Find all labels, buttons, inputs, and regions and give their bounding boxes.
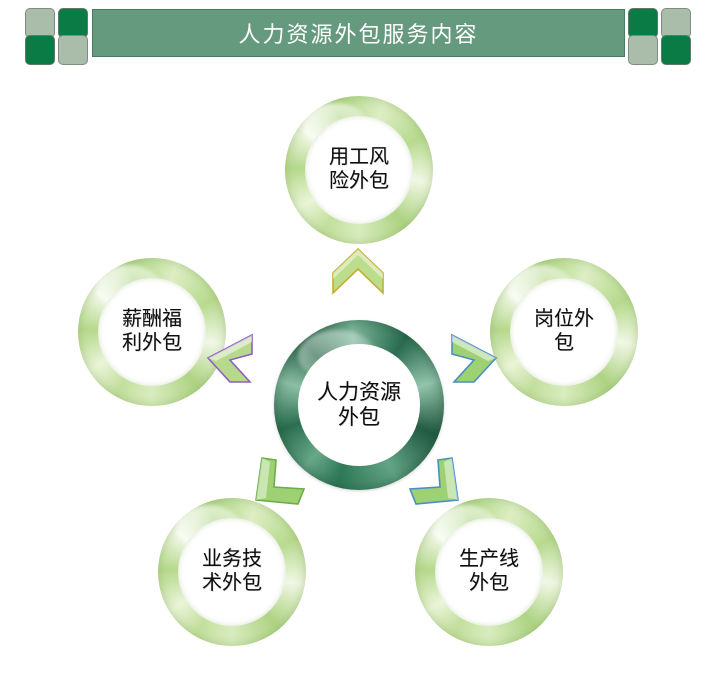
deco-right-bottom-right xyxy=(661,35,691,65)
page-title: 人力资源外包服务内容 xyxy=(238,17,478,49)
node-center-label: 人力资源 外包 xyxy=(317,380,401,430)
deco-left-top-left xyxy=(25,8,55,38)
deco-right-bottom-left xyxy=(628,35,658,65)
node-bottom-right[interactable]: 生产线 外包 xyxy=(415,498,563,646)
hub-and-spoke-diagram: 用工风 险外包 岗位外 包 生产线 外包 业务技 术外包 薪酬福 利外包 xyxy=(0,78,718,678)
header-banner: 人力资源外包服务内容 xyxy=(0,0,718,78)
deco-left-bottom-left xyxy=(25,35,55,65)
node-left-label: 薪酬福 利外包 xyxy=(122,308,182,355)
deco-right-top-right xyxy=(661,8,691,38)
deco-right-top-left xyxy=(628,8,658,38)
node-bottom-left-label: 业务技 术外包 xyxy=(202,548,262,595)
deco-left-top-right xyxy=(58,8,88,38)
title-bar: 人力资源外包服务内容 xyxy=(92,9,625,57)
arrow-up-icon xyxy=(330,246,386,298)
node-right[interactable]: 岗位外 包 xyxy=(490,258,638,406)
arrow-left-icon xyxy=(202,330,256,386)
node-bottom-left[interactable]: 业务技 术外包 xyxy=(158,498,306,646)
node-top-label: 用工风 险外包 xyxy=(329,146,389,193)
arrow-down-left-icon xyxy=(250,454,310,512)
node-bottom-right-label: 生产线 外包 xyxy=(459,548,519,595)
arrow-down-right-icon xyxy=(404,454,464,512)
node-top[interactable]: 用工风 险外包 xyxy=(285,96,433,244)
deco-left-bottom-right xyxy=(58,35,88,65)
node-right-label: 岗位外 包 xyxy=(534,308,594,355)
arrow-right-icon xyxy=(448,330,502,386)
